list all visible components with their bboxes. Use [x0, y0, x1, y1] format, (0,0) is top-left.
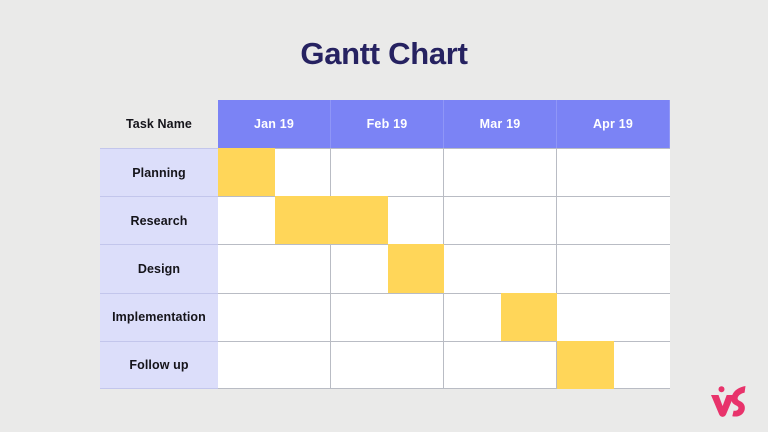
track-cell-research-mar[interactable]	[444, 196, 557, 244]
track-cell-research-apr[interactable]	[557, 196, 670, 244]
gantt-bar-research[interactable]	[275, 196, 388, 244]
task-label-planning[interactable]: Planning	[100, 148, 218, 196]
gantt-bar-planning[interactable]	[218, 148, 275, 196]
task-label-follow-up[interactable]: Follow up	[100, 341, 218, 389]
gantt-bar-implementation[interactable]	[501, 293, 558, 341]
column-header-month-0[interactable]: Jan 19	[218, 100, 331, 148]
track-cell-follow-up-jan[interactable]	[218, 341, 331, 389]
track-cell-follow-up-mar[interactable]	[444, 341, 557, 389]
gantt-bar-design[interactable]	[388, 244, 445, 292]
column-header-month-3[interactable]: Apr 19	[557, 100, 670, 148]
brand-logo	[708, 384, 750, 418]
track-cell-implementation-jan[interactable]	[218, 293, 331, 341]
task-label-implementation[interactable]: Implementation	[100, 293, 218, 341]
track-cell-planning-feb[interactable]	[331, 148, 444, 196]
track-cell-design-mar[interactable]	[444, 244, 557, 292]
track-cell-design-jan[interactable]	[218, 244, 331, 292]
column-header-month-1[interactable]: Feb 19	[331, 100, 444, 148]
task-label-design[interactable]: Design	[100, 244, 218, 292]
task-name-column-header: Task Name	[100, 100, 218, 148]
task-label-research[interactable]: Research	[100, 196, 218, 244]
track-cell-implementation-feb[interactable]	[331, 293, 444, 341]
track-cell-design-apr[interactable]	[557, 244, 670, 292]
column-header-month-2[interactable]: Mar 19	[444, 100, 557, 148]
track-cell-implementation-apr[interactable]	[557, 293, 670, 341]
page-title: Gantt Chart	[0, 38, 768, 69]
gantt-bar-follow-up[interactable]	[557, 341, 614, 389]
track-cell-planning-mar[interactable]	[444, 148, 557, 196]
track-cell-planning-apr[interactable]	[557, 148, 670, 196]
track-cell-follow-up-feb[interactable]	[331, 341, 444, 389]
